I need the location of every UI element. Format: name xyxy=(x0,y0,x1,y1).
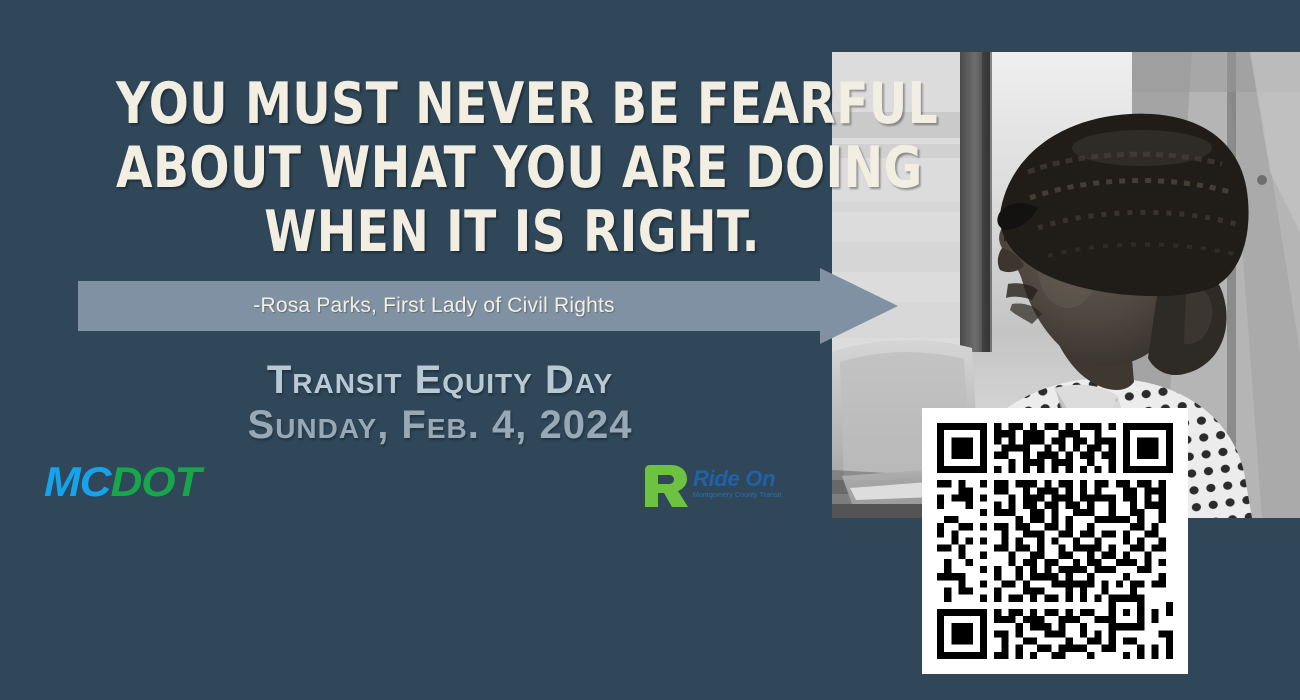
ride-on-subtitle: Montgomery County Transit xyxy=(693,491,793,500)
event-info: Transit Equity Day Sunday, Feb. 4, 2024 xyxy=(60,358,820,448)
quote-line-3: WHEN IT IS RIGHT. xyxy=(116,200,760,264)
event-date: Sunday, Feb. 4, 2024 xyxy=(60,402,820,448)
event-title: Transit Equity Day xyxy=(60,358,820,402)
ride-on-logo: Ride On Montgomery County Transit xyxy=(641,464,791,512)
ride-on-wordmark: Ride On Montgomery County Transit xyxy=(693,467,793,500)
qr-code-panel[interactable] xyxy=(922,408,1188,674)
mcdot-logo: MCDOT xyxy=(44,460,200,504)
mcdot-logo-mc: MC xyxy=(44,458,110,505)
mcdot-logo-dot: DOT xyxy=(110,458,200,505)
attribution-text: -Rosa Parks, First Lady of Civil Rights xyxy=(78,281,790,331)
quote-line-2: ABOUT WHAT YOU ARE DOING xyxy=(116,136,760,200)
attribution-banner: -Rosa Parks, First Lady of Civil Rights xyxy=(78,281,898,331)
transit-equity-day-poster: YOU MUST NEVER BE FEARFUL ABOUT WHAT YOU… xyxy=(0,0,1300,700)
quote-line-1: YOU MUST NEVER BE FEARFUL xyxy=(116,72,760,136)
qr-code-icon[interactable] xyxy=(937,423,1173,659)
ride-on-name: Ride On xyxy=(693,467,793,491)
ride-on-r-mark-icon xyxy=(641,464,689,508)
quote-text: YOU MUST NEVER BE FEARFUL ABOUT WHAT YOU… xyxy=(116,72,760,264)
